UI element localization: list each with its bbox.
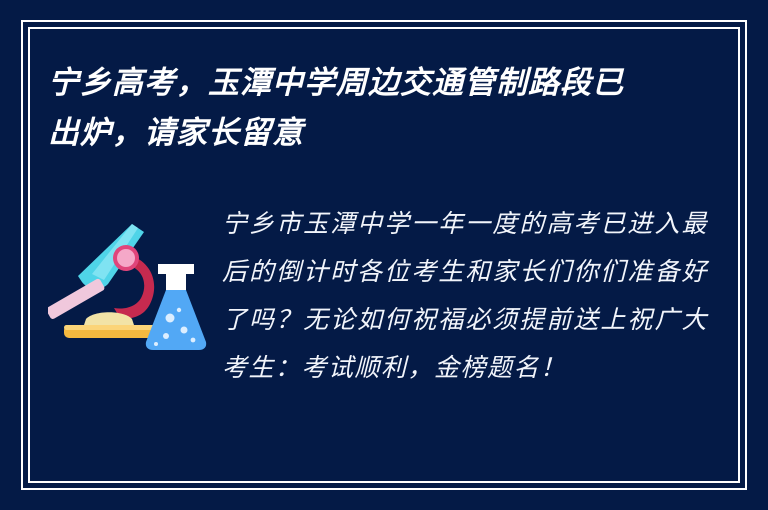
- microscope-base-highlight: [64, 325, 156, 330]
- flask-bubble: [181, 327, 188, 334]
- flask-body: [146, 290, 206, 350]
- microscope-lens-knob-inner: [117, 249, 135, 267]
- flask-bubble: [154, 342, 158, 346]
- flask-bubble: [191, 338, 196, 343]
- microscope-and-flask-icon: [48, 218, 208, 358]
- poster-canvas: 宁乡高考，玉潭中学周边交通管制路段已出炉，请家长留意: [0, 0, 768, 510]
- flask-bubble: [166, 314, 175, 323]
- poster-content-row: 宁乡市玉潭中学一年一度的高考已进入最后的倒计时各位考生和家长们你们准备好了吗？无…: [48, 200, 708, 392]
- poster-body-text: 宁乡市玉潭中学一年一度的高考已进入最后的倒计时各位考生和家长们你们准备好了吗？无…: [222, 200, 708, 392]
- flask-bubble: [163, 333, 169, 339]
- flask-neck: [158, 264, 194, 294]
- poster-title: 宁乡高考，玉潭中学周边交通管制路段已出炉，请家长留意: [48, 58, 648, 158]
- flask-bubble: [177, 308, 181, 312]
